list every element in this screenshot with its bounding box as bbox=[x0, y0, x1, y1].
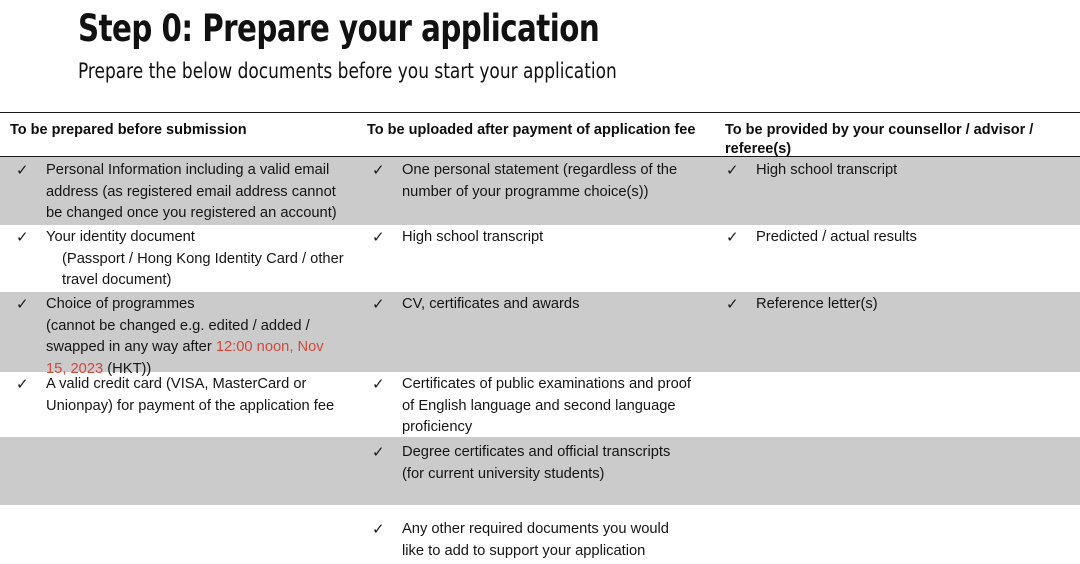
text-line: High school transcript bbox=[402, 227, 543, 249]
page-title: Step 0: Prepare your application bbox=[78, 4, 940, 54]
text-line: One personal statement (regardless of th… bbox=[402, 160, 677, 182]
check-icon: ✓ bbox=[726, 227, 744, 248]
text-line: travel document) bbox=[46, 270, 344, 292]
checklist-item-text: Choice of programmes(cannot be changed e… bbox=[46, 294, 324, 380]
checklist-item-text: Personal Information including a valid e… bbox=[46, 160, 337, 225]
check-icon: ✓ bbox=[372, 374, 390, 395]
checklist-item-text: Degree certificates and official transcr… bbox=[402, 442, 670, 485]
text-line: (for current university students) bbox=[402, 464, 670, 486]
checklist-item-text: Certificates of public examinations and … bbox=[402, 374, 691, 439]
text-line: Predicted / actual results bbox=[756, 227, 917, 249]
check-icon: ✓ bbox=[372, 160, 390, 181]
documents-table: To be prepared before submission To be u… bbox=[0, 112, 1080, 564]
checklist-item-text: Reference letter(s) bbox=[756, 294, 878, 316]
text-line: Personal Information including a valid e… bbox=[46, 160, 337, 182]
check-icon: ✓ bbox=[372, 442, 390, 463]
page-subtitle: Prepare the below documents before you s… bbox=[78, 54, 960, 85]
text-line: Degree certificates and official transcr… bbox=[402, 442, 670, 464]
heading-block: Step 0: Prepare your application Prepare… bbox=[78, 4, 1058, 85]
text-line: address (as registered email address can… bbox=[46, 182, 337, 204]
text-line: swapped in any way after 12:00 noon, Nov bbox=[46, 337, 324, 359]
checklist-item-text: High school transcript bbox=[402, 227, 543, 249]
text-line: Certificates of public examinations and … bbox=[402, 374, 691, 396]
checklist-item-text: Predicted / actual results bbox=[756, 227, 917, 249]
text-line: (cannot be changed e.g. edited / added / bbox=[46, 316, 324, 338]
text-line: of English language and second language bbox=[402, 396, 691, 418]
text-line: (Passport / Hong Kong Identity Card / ot… bbox=[46, 249, 344, 271]
text-line: proficiency bbox=[402, 417, 691, 439]
text-line: A valid credit card (VISA, MasterCard or bbox=[46, 374, 334, 396]
checklist-item-text: A valid credit card (VISA, MasterCard or… bbox=[46, 374, 334, 417]
check-icon: ✓ bbox=[372, 519, 390, 540]
text-line: Your identity document bbox=[46, 227, 344, 249]
text-line: number of your programme choice(s)) bbox=[402, 182, 677, 204]
check-icon: ✓ bbox=[16, 294, 34, 315]
text-line: Unionpay) for payment of the application… bbox=[46, 396, 334, 418]
checklist-item-text: One personal statement (regardless of th… bbox=[402, 160, 677, 203]
text-line: High school transcript bbox=[756, 160, 897, 182]
table-cells: ✓Personal Information including a valid … bbox=[0, 112, 1080, 564]
check-icon: ✓ bbox=[372, 294, 390, 315]
checklist-item-text: High school transcript bbox=[756, 160, 897, 182]
text-line: Choice of programmes bbox=[46, 294, 324, 316]
checklist-item-text: Any other required documents you wouldli… bbox=[402, 519, 669, 562]
deadline-highlight: 12:00 noon, Nov bbox=[216, 339, 324, 355]
check-icon: ✓ bbox=[726, 160, 744, 181]
text-line: Any other required documents you would bbox=[402, 519, 669, 541]
check-icon: ✓ bbox=[726, 294, 744, 315]
text-line: Reference letter(s) bbox=[756, 294, 878, 316]
check-icon: ✓ bbox=[16, 160, 34, 181]
text-line: CV, certificates and awards bbox=[402, 294, 579, 316]
check-icon: ✓ bbox=[16, 227, 34, 248]
checklist-item-text: Your identity document(Passport / Hong K… bbox=[46, 227, 344, 292]
text-line: be changed once you registered an accoun… bbox=[46, 203, 337, 225]
check-icon: ✓ bbox=[372, 227, 390, 248]
checklist-item-text: CV, certificates and awards bbox=[402, 294, 579, 316]
text-line: like to add to support your application bbox=[402, 541, 669, 563]
check-icon: ✓ bbox=[16, 374, 34, 395]
